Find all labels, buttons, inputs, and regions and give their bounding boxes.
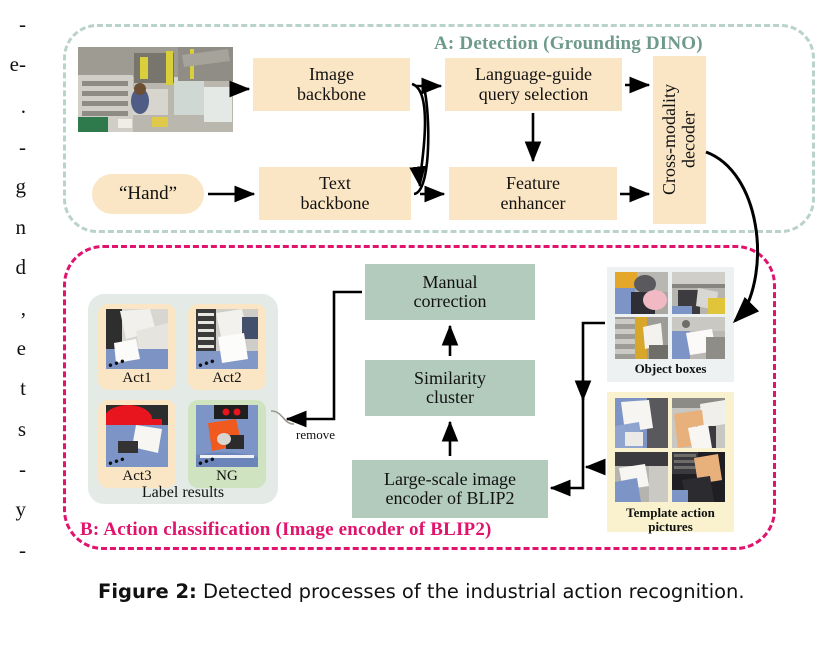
label-tile-act2[interactable]: ••• Act2 — [188, 304, 266, 390]
gutter-fragment: g — [16, 176, 27, 197]
figure-caption-text: Detected processes of the industrial act… — [197, 580, 745, 603]
gutter-fragment: d — [16, 257, 27, 278]
node-hand-text-prompt[interactable]: “Hand” — [92, 174, 204, 214]
gutter-fragment: y — [16, 499, 27, 520]
gutter-fragment: s — [18, 419, 26, 440]
template-action-pictures-panel: Template action pictures — [607, 392, 734, 532]
node-feature-enhancer[interactable]: Feature enhancer — [449, 167, 617, 220]
node-image-backbone[interactable]: Image backbone — [253, 58, 410, 111]
object-box-photo — [615, 272, 668, 314]
gutter-fragment: n — [16, 217, 27, 238]
gutter-fragment: e- — [10, 54, 26, 75]
figure-caption-prefix: Figure 2: — [98, 580, 197, 603]
section-a-label: A: Detection (Grounding DINO) — [434, 33, 703, 55]
node-similarity-cluster[interactable]: Similarity cluster — [365, 360, 535, 416]
remove-annotation-label: remove — [296, 427, 335, 443]
object-boxes-caption: Object boxes — [607, 362, 734, 376]
label-results-caption: Label results — [88, 484, 278, 502]
node-blip2-image-encoder[interactable]: Large-scale image encoder of BLIP2 — [352, 460, 548, 518]
node-manual-correction[interactable]: Manual correction — [365, 264, 535, 320]
label-tile-caption: Act1 — [98, 370, 176, 387]
node-text-backbone[interactable]: Text backbone — [259, 167, 411, 220]
node-cross-modality-decoder[interactable]: Cross-modality decoder — [653, 56, 706, 224]
gutter-fragment: e — [17, 338, 26, 359]
object-box-photo — [672, 272, 725, 314]
gutter-fragment: . — [21, 96, 26, 117]
label-tile-act3[interactable]: ••• Act3 — [98, 400, 176, 488]
template-photo — [615, 398, 668, 448]
section-b-label: B: Action classification (Image encoder … — [80, 519, 492, 541]
object-box-photo — [672, 317, 725, 359]
object-boxes-panel: Object boxes — [607, 267, 734, 382]
template-pictures-caption: Template action pictures — [607, 506, 734, 533]
template-photo — [615, 452, 668, 502]
object-box-photo — [615, 317, 668, 359]
gutter-fragment: - — [19, 14, 26, 35]
gutter-fragment: - — [19, 540, 26, 561]
template-photo — [672, 398, 725, 448]
label-results-panel: ••• Act1 ••• — [88, 294, 278, 504]
template-photo — [672, 452, 725, 502]
label-tile-caption: Act3 — [98, 468, 176, 485]
figure-caption: Figure 2: Detected processes of the indu… — [98, 578, 808, 606]
label-tile-caption: NG — [188, 468, 266, 485]
label-tile-ng[interactable]: ••• NG — [188, 400, 266, 488]
node-language-guide-query-selection[interactable]: Language-guide query selection — [445, 58, 622, 111]
label-tile-caption: Act2 — [188, 370, 266, 387]
gutter-fragment: - — [19, 137, 26, 158]
gutter-fragment: t — [20, 378, 26, 399]
gutter-fragment: - — [19, 459, 26, 480]
left-gutter-column: - e- . - g n d , e t s - y - — [0, 0, 40, 580]
input-scene-photo — [78, 47, 233, 132]
label-tile-act1[interactable]: ••• Act1 — [98, 304, 176, 390]
figure-2-diagram: - e- . - g n d , e t s - y - A: Detectio… — [0, 0, 832, 664]
gutter-fragment: , — [21, 298, 26, 319]
